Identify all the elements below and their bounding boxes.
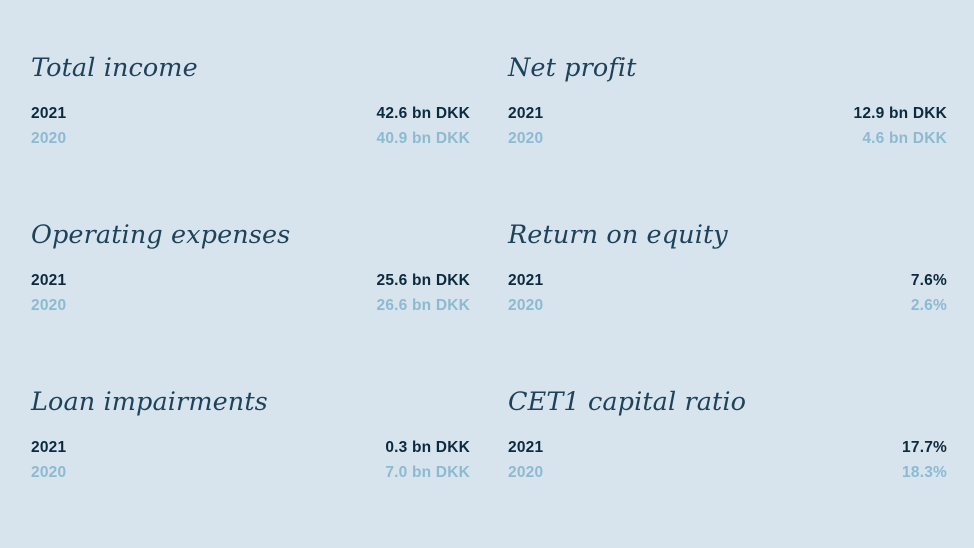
- metric-net-profit: Net profit 2021 12.9 bn DKK 2020 4.6 bn …: [508, 56, 947, 223]
- metric-title: Total income: [31, 56, 470, 82]
- metric-operating-expenses: Operating expenses 2021 25.6 bn DKK 2020…: [31, 223, 470, 390]
- metric-year-label: 2020: [508, 298, 543, 314]
- metric-value: 18.3%: [902, 465, 947, 481]
- metric-value: 25.6 bn DKK: [377, 273, 471, 289]
- metric-year-label: 2020: [508, 465, 543, 481]
- metric-rows: 2021 12.9 bn DKK 2020 4.6 bn DKK: [508, 106, 947, 147]
- metric-year-label: 2021: [31, 106, 66, 122]
- metric-row-previous: 2020 26.6 bn DKK: [31, 298, 470, 314]
- metric-loan-impairments: Loan impairments 2021 0.3 bn DKK 2020 7.…: [31, 390, 470, 481]
- metric-row-previous: 2020 2.6%: [508, 298, 947, 314]
- metric-year-label: 2020: [31, 465, 66, 481]
- metric-value: 42.6 bn DKK: [377, 106, 471, 122]
- metric-title: Operating expenses: [31, 223, 470, 249]
- metric-row-current: 2021 42.6 bn DKK: [31, 106, 470, 122]
- metric-value: 40.9 bn DKK: [377, 131, 471, 147]
- metric-value: 26.6 bn DKK: [377, 298, 471, 314]
- metric-value: 2.6%: [911, 298, 947, 314]
- metric-value: 17.7%: [902, 440, 947, 456]
- metrics-grid: Total income 2021 42.6 bn DKK 2020 40.9 …: [31, 56, 947, 481]
- metric-title: Return on equity: [508, 223, 947, 249]
- metric-rows: 2021 0.3 bn DKK 2020 7.0 bn DKK: [31, 440, 470, 481]
- metric-row-previous: 2020 40.9 bn DKK: [31, 131, 470, 147]
- metric-year-label: 2021: [31, 440, 66, 456]
- metric-total-income: Total income 2021 42.6 bn DKK 2020 40.9 …: [31, 56, 470, 223]
- metric-year-label: 2021: [31, 273, 66, 289]
- metric-value: 0.3 bn DKK: [385, 440, 470, 456]
- metric-year-label: 2021: [508, 273, 543, 289]
- metric-return-on-equity: Return on equity 2021 7.6% 2020 2.6%: [508, 223, 947, 390]
- metric-row-current: 2021 12.9 bn DKK: [508, 106, 947, 122]
- metric-rows: 2021 7.6% 2020 2.6%: [508, 273, 947, 314]
- metric-row-current: 2021 0.3 bn DKK: [31, 440, 470, 456]
- metric-row-current: 2021 25.6 bn DKK: [31, 273, 470, 289]
- metric-value: 7.6%: [911, 273, 947, 289]
- metric-year-label: 2020: [508, 131, 543, 147]
- metric-row-current: 2021 7.6%: [508, 273, 947, 289]
- metric-rows: 2021 42.6 bn DKK 2020 40.9 bn DKK: [31, 106, 470, 147]
- metric-rows: 2021 25.6 bn DKK 2020 26.6 bn DKK: [31, 273, 470, 314]
- metric-rows: 2021 17.7% 2020 18.3%: [508, 440, 947, 481]
- metric-row-current: 2021 17.7%: [508, 440, 947, 456]
- metric-year-label: 2021: [508, 440, 543, 456]
- key-figures-board: Total income 2021 42.6 bn DKK 2020 40.9 …: [0, 0, 974, 548]
- metric-year-label: 2020: [31, 298, 66, 314]
- metric-title: Loan impairments: [31, 390, 470, 416]
- metric-title: Net profit: [508, 56, 947, 82]
- metric-year-label: 2021: [508, 106, 543, 122]
- metric-row-previous: 2020 4.6 bn DKK: [508, 131, 947, 147]
- metric-row-previous: 2020 7.0 bn DKK: [31, 465, 470, 481]
- metric-value: 7.0 bn DKK: [385, 465, 470, 481]
- metric-value: 4.6 bn DKK: [862, 131, 947, 147]
- metric-title: CET1 capital ratio: [508, 390, 947, 416]
- metric-year-label: 2020: [31, 131, 66, 147]
- metric-cet1-capital-ratio: CET1 capital ratio 2021 17.7% 2020 18.3%: [508, 390, 947, 481]
- metric-value: 12.9 bn DKK: [854, 106, 948, 122]
- metric-row-previous: 2020 18.3%: [508, 465, 947, 481]
